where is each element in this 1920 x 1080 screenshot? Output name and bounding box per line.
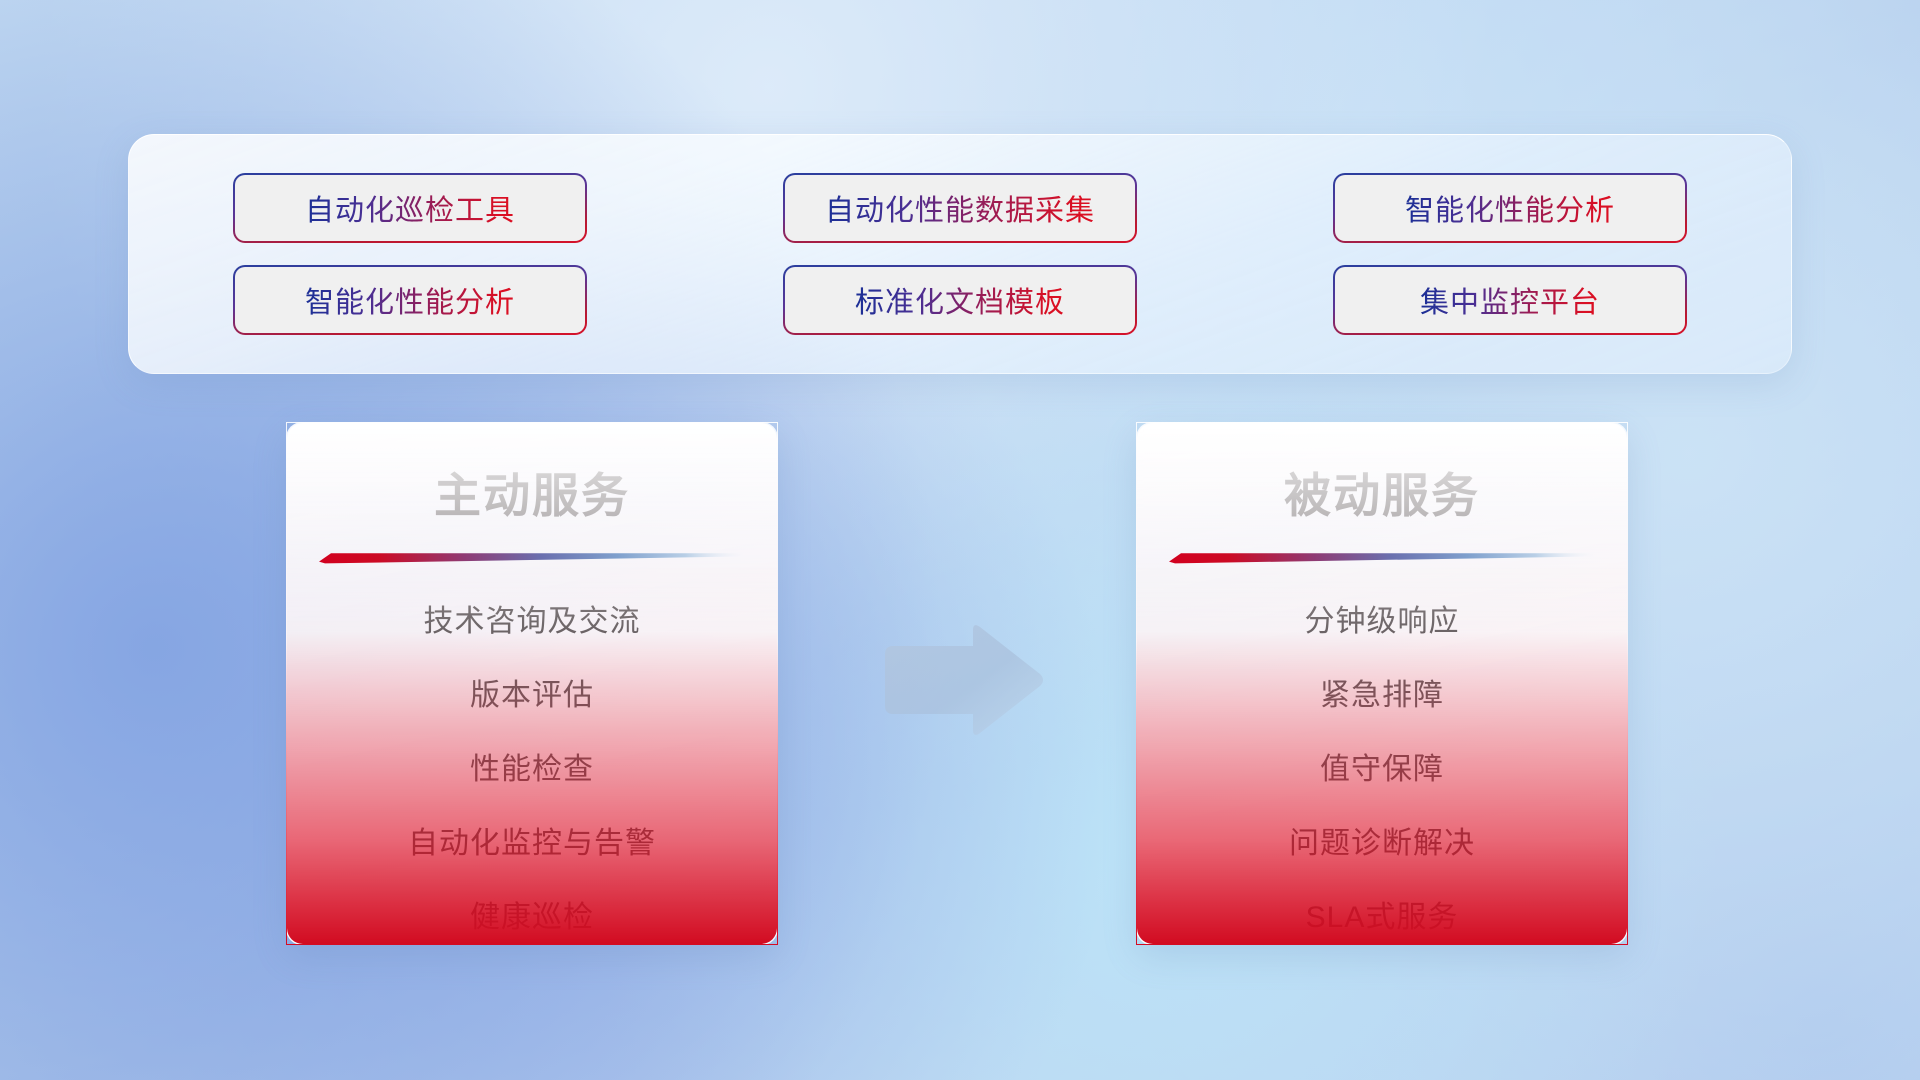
capability-tag-inner: 自动化巡检工具 (235, 175, 585, 241)
capability-tag[interactable]: 智能化性能分析 (233, 265, 587, 335)
service-list-item: 分钟级响应 (1305, 596, 1460, 640)
capability-tag[interactable]: 自动化巡检工具 (233, 173, 587, 243)
service-list-item: 问题诊断解决 (1289, 818, 1475, 862)
service-card-list: 技术咨询及交流 版本评估 性能检查 自动化监控与告警 健康巡检 (287, 596, 777, 936)
card-divider (1169, 552, 1595, 564)
service-list-item: 值守保障 (1320, 744, 1444, 788)
capability-tag-label: 集中监控平台 (1420, 279, 1600, 321)
service-list-item: 紧急排障 (1320, 670, 1444, 714)
capability-tag-row-1: 自动化巡检工具 自动化性能数据采集 智能化性能分析 (129, 173, 1791, 243)
service-card-title: 主动服务 (287, 457, 777, 526)
service-card-title: 被动服务 (1137, 457, 1627, 526)
service-card-passive[interactable]: 被动服务 分钟级响应 紧急排障 (1136, 422, 1628, 945)
service-list-item: 自动化监控与告警 (408, 818, 656, 862)
capability-tag-row-2: 智能化性能分析 标准化文档模板 集中监控平台 (129, 265, 1791, 335)
capability-tag-inner: 自动化性能数据采集 (785, 175, 1135, 241)
service-card-active[interactable]: 主动服务 技术咨询及交流 版本评估 (286, 422, 778, 945)
capability-tag-label: 标准化文档模板 (855, 279, 1065, 321)
capability-tag-label: 自动化巡检工具 (305, 187, 515, 229)
capability-tag[interactable]: 集中监控平台 (1333, 265, 1687, 335)
capability-tag[interactable]: 标准化文档模板 (783, 265, 1137, 335)
service-list-item: 技术咨询及交流 (424, 596, 641, 640)
capability-tag-inner: 标准化文档模板 (785, 267, 1135, 333)
flow-arrow-right-icon (877, 620, 1045, 740)
capabilities-panel: 自动化巡检工具 自动化性能数据采集 智能化性能分析 智能化性能分析 (128, 134, 1792, 374)
capability-tag-inner: 智能化性能分析 (235, 267, 585, 333)
service-list-item: SLA式服务 (1306, 892, 1459, 936)
diagram-stage: 自动化巡检工具 自动化性能数据采集 智能化性能分析 智能化性能分析 (0, 0, 1920, 1080)
capability-tag-inner: 集中监控平台 (1335, 267, 1685, 333)
capability-tag-label: 智能化性能分析 (305, 279, 515, 321)
capability-tag-inner: 智能化性能分析 (1335, 175, 1685, 241)
service-list-item: 健康巡检 (470, 892, 594, 936)
capability-tag[interactable]: 智能化性能分析 (1333, 173, 1687, 243)
service-list-item: 版本评估 (470, 670, 594, 714)
service-list-item: 性能检查 (470, 744, 594, 788)
capability-tag[interactable]: 自动化性能数据采集 (783, 173, 1137, 243)
capability-tag-label: 智能化性能分析 (1405, 187, 1615, 229)
capability-tag-label: 自动化性能数据采集 (825, 187, 1095, 229)
service-card-list: 分钟级响应 紧急排障 值守保障 问题诊断解决 SLA式服务 (1137, 596, 1627, 936)
card-divider (319, 552, 745, 564)
